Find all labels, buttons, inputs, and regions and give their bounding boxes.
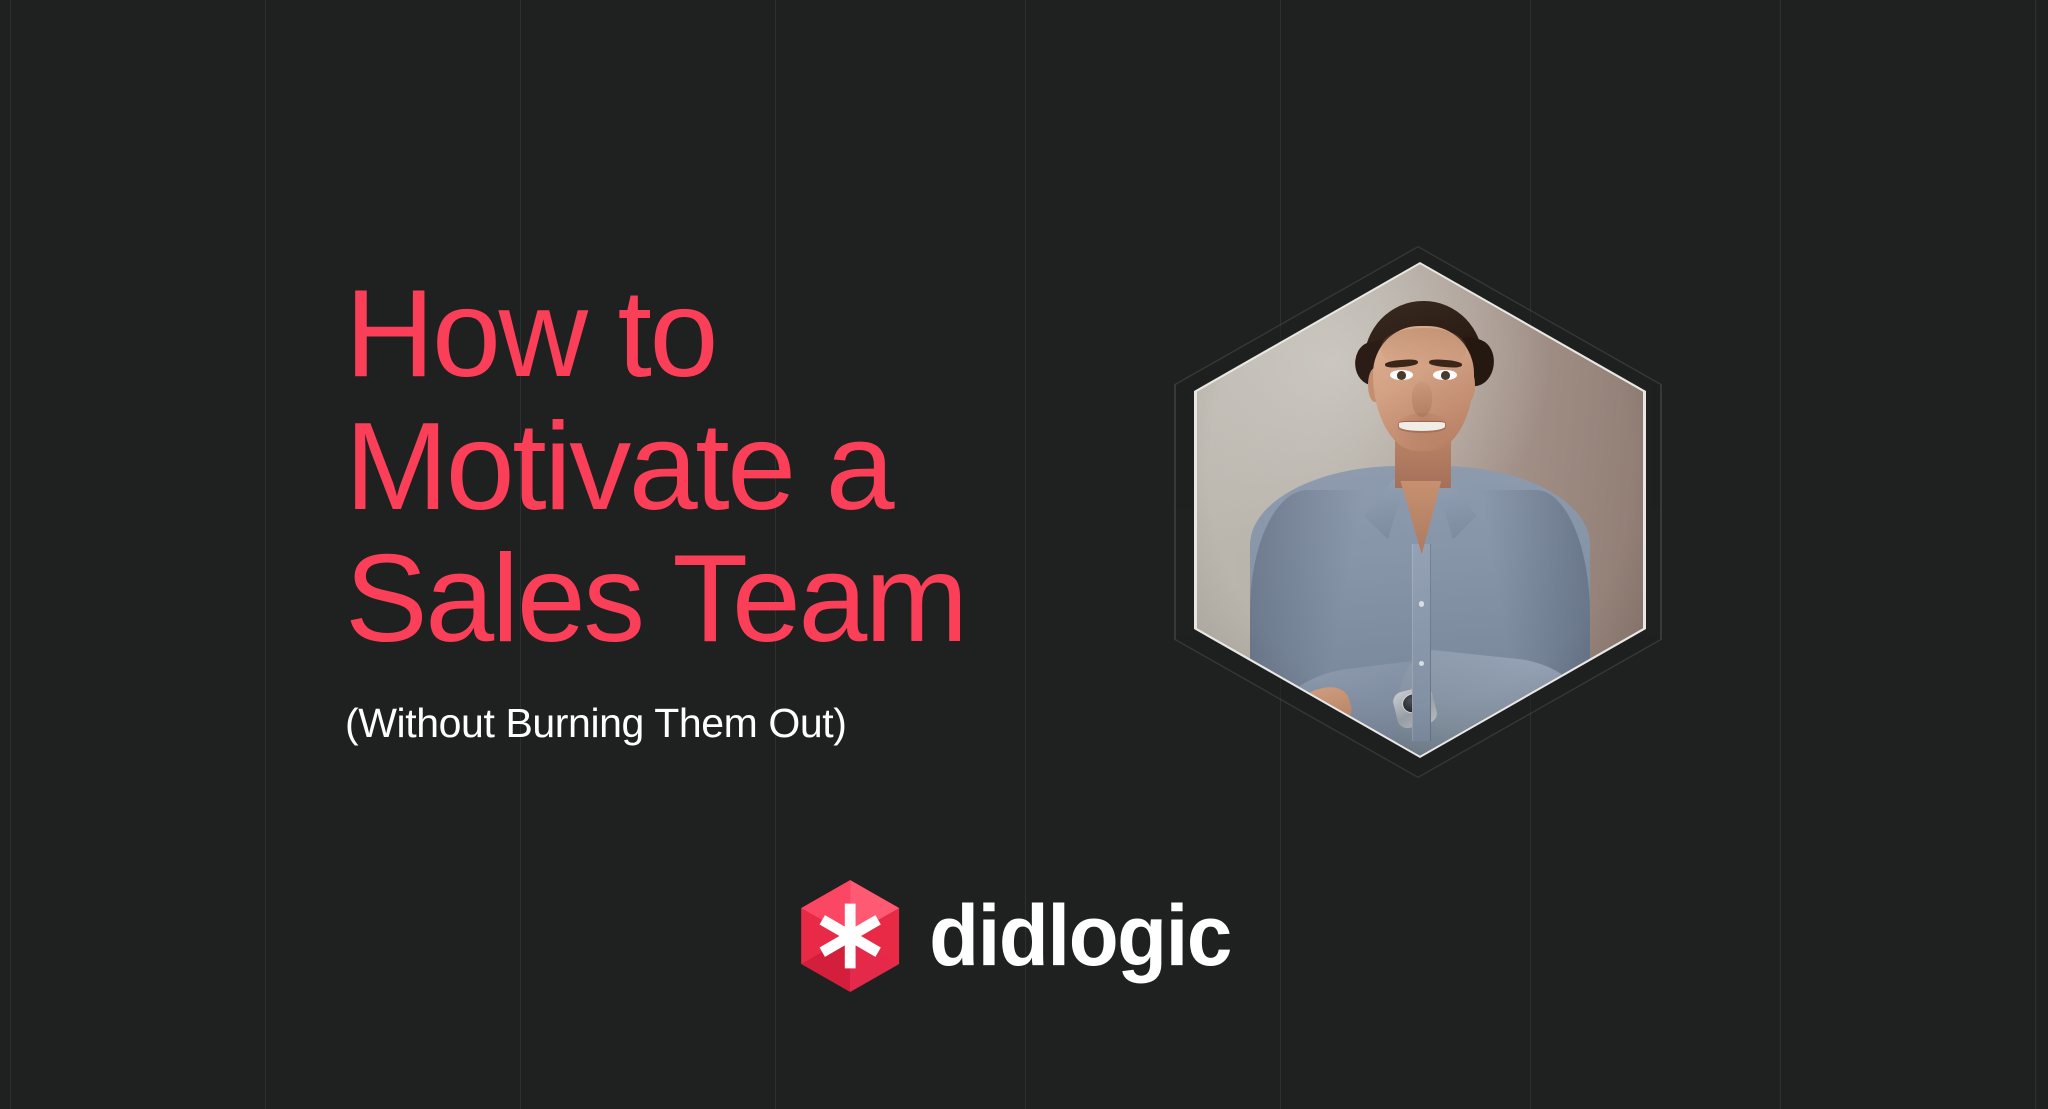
page-title: How to Motivate a Sales Team — [345, 268, 1105, 666]
photo-shirt-button — [1419, 601, 1425, 607]
portrait-hexagon — [1168, 238, 1668, 786]
grid-line — [10, 0, 11, 1109]
page-subtitle: (Without Burning Them Out) — [345, 700, 1105, 747]
photo-nose — [1412, 382, 1432, 416]
grid-line — [1780, 0, 1781, 1109]
headline-block: How to Motivate a Sales Team (Without Bu… — [345, 268, 1105, 747]
brand-logo: didlogic — [801, 880, 1247, 992]
grid-line — [2035, 0, 2036, 1109]
brand-wordmark: didlogic — [929, 893, 1231, 979]
photo-mouth — [1399, 422, 1445, 431]
social-card: How to Motivate a Sales Team (Without Bu… — [0, 0, 2048, 1109]
hexagon-asterisk-icon — [801, 880, 899, 992]
grid-line — [265, 0, 266, 1109]
photo-shirt-placket — [1412, 544, 1431, 740]
